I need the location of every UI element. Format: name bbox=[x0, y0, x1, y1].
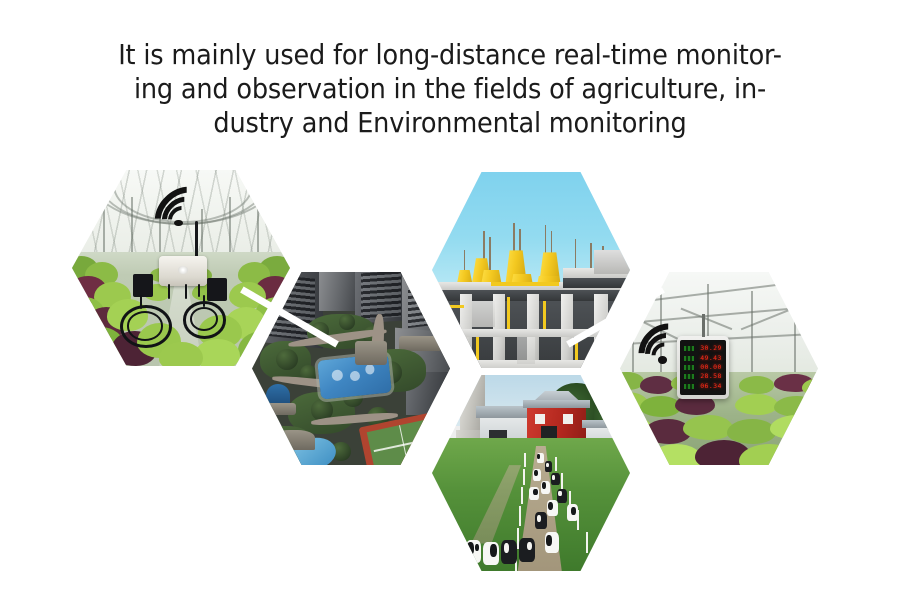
led-value: 06.34 bbox=[696, 383, 722, 390]
hex-image-greenhouse-display: 30.29 49.43 00.00 28.58 bbox=[620, 272, 818, 465]
led-label-icon bbox=[684, 346, 694, 351]
led-row: 30.29 bbox=[682, 345, 723, 352]
greenhouse-sensor-scene bbox=[72, 170, 290, 366]
page-title-line-2: ing and observation in the fields of agr… bbox=[32, 72, 869, 106]
construction-site-scene bbox=[432, 172, 630, 368]
led-value: 28.58 bbox=[696, 373, 722, 380]
sensor-node-icon bbox=[159, 256, 207, 285]
cow bbox=[541, 481, 551, 494]
led-label-icon bbox=[684, 384, 694, 389]
hex-image-urban-residential bbox=[252, 272, 450, 465]
hex-image-greenhouse-sensor bbox=[72, 170, 290, 366]
led-display-screen: 30.29 49.43 00.00 28.58 bbox=[680, 340, 725, 395]
led-row: 49.43 bbox=[682, 355, 723, 362]
led-label-icon bbox=[684, 356, 694, 361]
led-row: 28.58 bbox=[682, 373, 723, 380]
wifi-icon bbox=[150, 188, 207, 231]
cow bbox=[551, 473, 560, 485]
cow bbox=[547, 500, 558, 516]
cow bbox=[501, 540, 517, 565]
slide-canvas: It is mainly used for long-distance real… bbox=[0, 0, 900, 592]
cow bbox=[483, 542, 499, 566]
hex-image-construction-site bbox=[432, 172, 630, 368]
cow bbox=[545, 532, 559, 554]
page-title: It is mainly used for long-distance real… bbox=[32, 38, 869, 140]
cow bbox=[567, 504, 578, 520]
led-display-board: 30.29 49.43 00.00 28.58 bbox=[677, 336, 728, 400]
cow bbox=[529, 487, 539, 501]
led-label-icon bbox=[684, 374, 694, 379]
cow bbox=[535, 512, 547, 529]
probe-left-icon bbox=[133, 274, 153, 298]
cow bbox=[466, 540, 482, 564]
led-row: 06.34 bbox=[682, 383, 723, 390]
cow bbox=[533, 469, 541, 481]
cow bbox=[519, 538, 535, 563]
led-value: 30.29 bbox=[696, 345, 722, 352]
led-label-icon bbox=[684, 365, 694, 370]
page-title-line-1: It is mainly used for long-distance real… bbox=[32, 38, 869, 72]
probe-right-icon bbox=[207, 278, 227, 302]
urban-residential-scene bbox=[252, 272, 450, 465]
led-value: 00.00 bbox=[696, 364, 722, 371]
cow bbox=[545, 461, 553, 472]
hex-image-dairy-farm bbox=[432, 375, 630, 571]
led-row: 00.00 bbox=[682, 364, 723, 371]
led-value: 49.43 bbox=[696, 355, 722, 362]
page-title-line-3: dustry and Environmental monitoring bbox=[32, 106, 869, 140]
dairy-farm-scene bbox=[432, 375, 630, 571]
cow bbox=[537, 453, 544, 463]
cow bbox=[557, 489, 567, 504]
greenhouse-display-scene: 30.29 49.43 00.00 28.58 bbox=[620, 272, 818, 465]
